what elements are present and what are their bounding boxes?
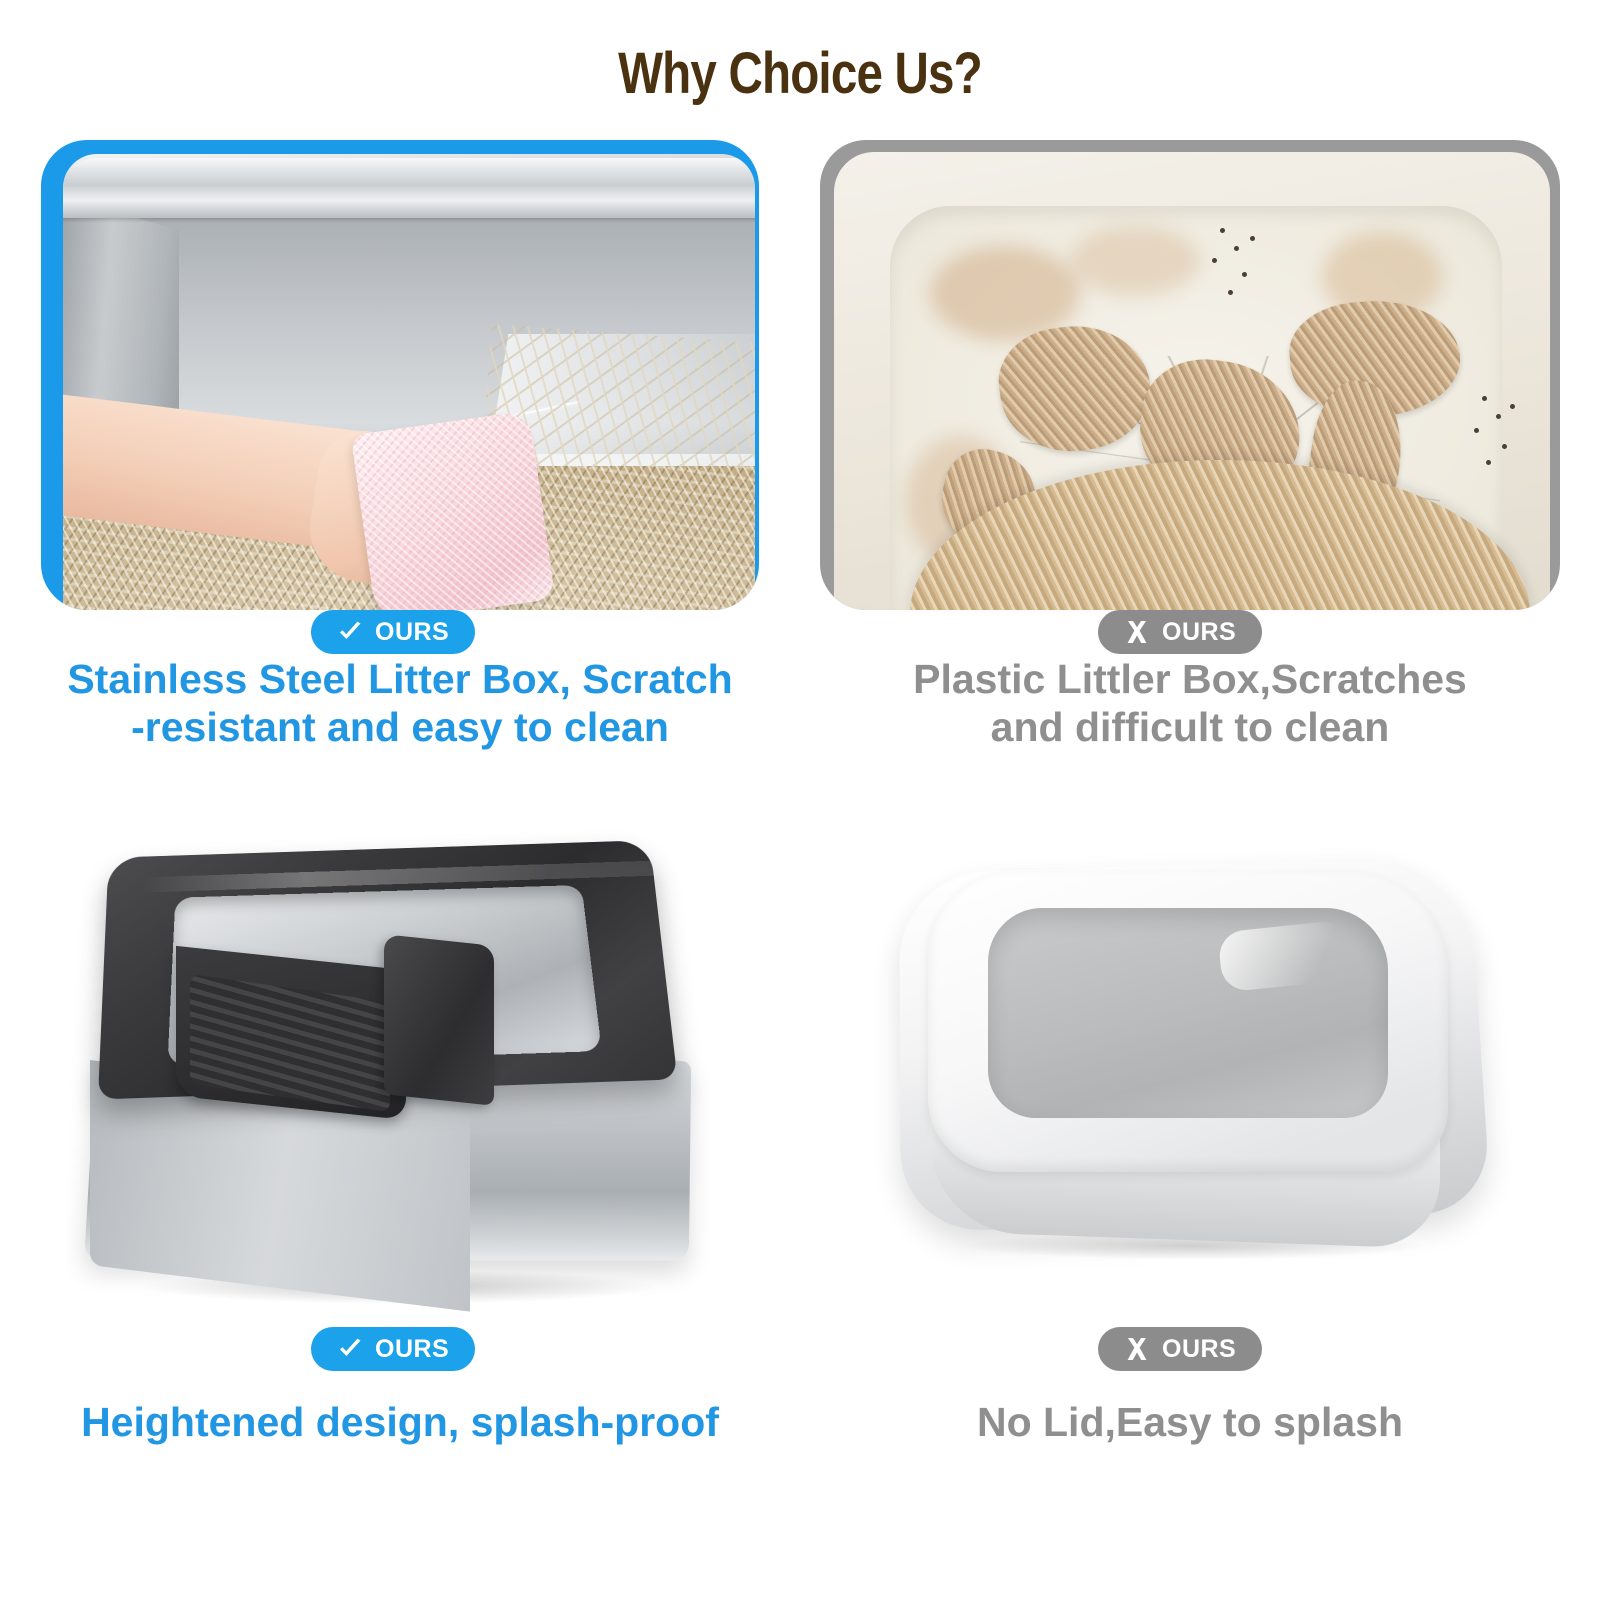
- badge-ours-good-top-left[interactable]: OURS: [311, 610, 475, 654]
- page-title: Why Choice Us?: [144, 40, 1456, 107]
- badge-label: OURS: [375, 618, 449, 647]
- check-icon: [337, 1336, 363, 1362]
- comparison-infographic: Why Choice Us?: [0, 0, 1600, 1600]
- black-lid-assembly: [104, 840, 664, 1100]
- cross-icon: [1124, 1336, 1150, 1362]
- caption-bottom-right: No Lid,Easy to splash: [810, 1398, 1570, 1446]
- plastic-box-photo: [820, 140, 1560, 610]
- plastic-basin: [890, 206, 1502, 610]
- check-icon: [337, 619, 363, 645]
- caption-line: -resistant and easy to clean: [20, 703, 780, 751]
- caption-line: Plastic Littler Box,Scratches: [810, 655, 1570, 703]
- white-litter-tray-product-image: [870, 830, 1510, 1270]
- badge-label: OURS: [1162, 618, 1236, 647]
- stainless-steel-box-photo: [41, 140, 759, 610]
- photo-inner: [834, 152, 1550, 610]
- caption-top-right: Plastic Littler Box,Scratches and diffic…: [810, 655, 1570, 752]
- badge-label: OURS: [375, 1335, 449, 1364]
- badge-ours-good-bottom-left[interactable]: OURS: [311, 1327, 475, 1371]
- caption-line: Stainless Steel Litter Box, Scratch: [20, 655, 780, 703]
- black-litter-box-product-image: [70, 810, 730, 1290]
- caption-bottom-left: Heightened design, splash-proof: [20, 1398, 780, 1446]
- entry-post: [384, 934, 494, 1106]
- photo-inner: [63, 154, 755, 610]
- caption-top-left: Stainless Steel Litter Box, Scratch -res…: [20, 655, 780, 752]
- caption-line: No Lid,Easy to splash: [810, 1398, 1570, 1446]
- badge-label: OURS: [1162, 1335, 1236, 1364]
- comparison-cell-bottom-right: [810, 790, 1570, 1490]
- badge-ours-bad-bottom-right[interactable]: OURS: [1098, 1327, 1262, 1371]
- pink-cleaning-cloth: [351, 410, 556, 610]
- caption-line: Heightened design, splash-proof: [20, 1398, 780, 1446]
- comparison-cell-bottom-left: [30, 790, 770, 1490]
- badge-ours-bad-top-right[interactable]: OURS: [1098, 610, 1262, 654]
- caption-line: and difficult to clean: [810, 703, 1570, 751]
- steel-rim: [63, 158, 755, 218]
- cross-icon: [1124, 619, 1150, 645]
